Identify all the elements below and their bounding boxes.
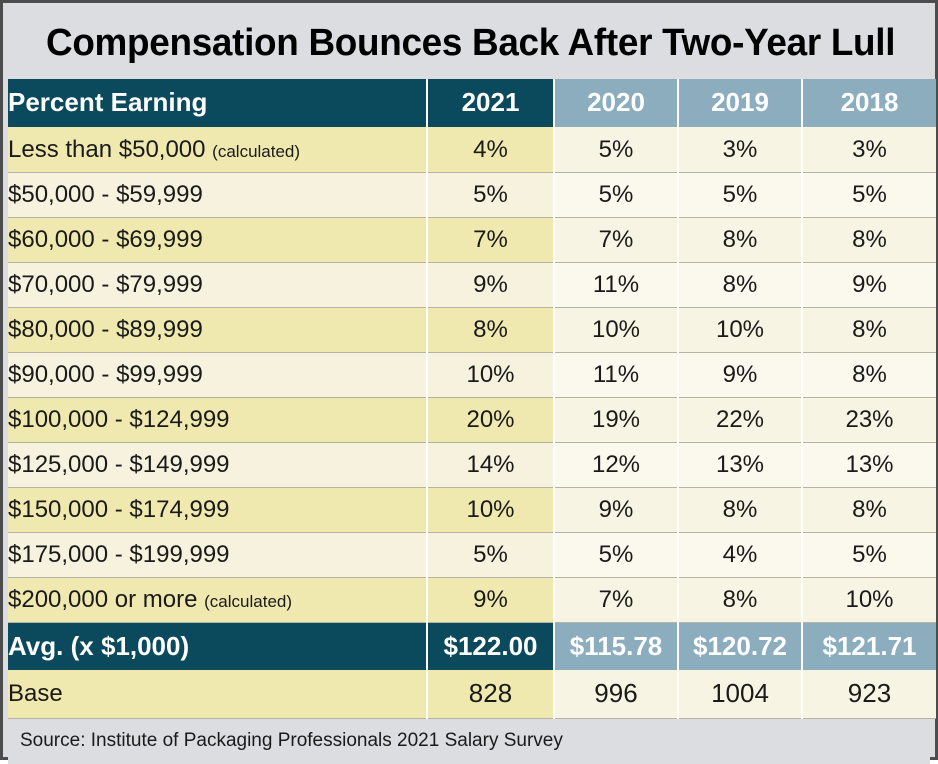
row-label-text: $100,000 - $124,999 bbox=[8, 406, 230, 433]
row-label-note: (calculated) bbox=[212, 142, 300, 161]
average-cell-2019: $120.72 bbox=[678, 622, 802, 670]
cell-2021: 9% bbox=[427, 262, 554, 307]
row-label: $200,000 or more (calculated) bbox=[8, 577, 427, 622]
cell-2020: 7% bbox=[554, 217, 678, 262]
row-label-text: $60,000 - $69,999 bbox=[8, 226, 203, 253]
cell-2020: 5% bbox=[554, 172, 678, 217]
cell-2020: 12% bbox=[554, 442, 678, 487]
cell-2018: 8% bbox=[802, 217, 936, 262]
cell-2019: 3% bbox=[678, 127, 802, 172]
average-cell-2018: $121.71 bbox=[802, 622, 936, 670]
cell-2018: 3% bbox=[802, 127, 936, 172]
cell-2018: 13% bbox=[802, 442, 936, 487]
cell-2018: 5% bbox=[802, 172, 936, 217]
base-row: Base 828 996 1004 923 bbox=[8, 670, 936, 718]
cell-2021: 5% bbox=[427, 532, 554, 577]
base-cell-2020: 996 bbox=[554, 670, 678, 718]
page-title: Compensation Bounces Back After Two-Year… bbox=[46, 22, 895, 65]
cell-2021: 20% bbox=[427, 397, 554, 442]
column-header-percent-earning: Percent Earning bbox=[8, 79, 427, 127]
cell-2021: 4% bbox=[427, 127, 554, 172]
base-row-label: Base bbox=[8, 670, 427, 718]
cell-2020: 7% bbox=[554, 577, 678, 622]
base-cell-2019: 1004 bbox=[678, 670, 802, 718]
cell-2020: 11% bbox=[554, 262, 678, 307]
cell-2021: 5% bbox=[427, 172, 554, 217]
compensation-table: Percent Earning 2021 2020 2019 2018 Less… bbox=[8, 79, 936, 719]
row-label: Less than $50,000 (calculated) bbox=[8, 127, 427, 172]
cell-2018: 8% bbox=[802, 487, 936, 532]
cell-2019: 4% bbox=[678, 532, 802, 577]
cell-2018: 5% bbox=[802, 532, 936, 577]
row-label-text: $90,000 - $99,999 bbox=[8, 361, 203, 388]
cell-2019: 9% bbox=[678, 352, 802, 397]
cell-2020: 19% bbox=[554, 397, 678, 442]
cell-2020: 11% bbox=[554, 352, 678, 397]
cell-2021: 8% bbox=[427, 307, 554, 352]
cell-2019: 10% bbox=[678, 307, 802, 352]
table-row: $50,000 - $59,999 5% 5% 5% 5% bbox=[8, 172, 936, 217]
title-bar: Compensation Bounces Back After Two-Year… bbox=[8, 8, 930, 79]
table-row: $100,000 - $124,999 20% 19% 22% 23% bbox=[8, 397, 936, 442]
row-label: $70,000 - $79,999 bbox=[8, 262, 427, 307]
table-row: $150,000 - $174,999 10% 9% 8% 8% bbox=[8, 487, 936, 532]
row-label-text: $70,000 - $79,999 bbox=[8, 271, 203, 298]
table-row: $200,000 or more (calculated) 9% 7% 8% 1… bbox=[8, 577, 936, 622]
table-row: $175,000 - $199,999 5% 5% 4% 5% bbox=[8, 532, 936, 577]
cell-2020: 5% bbox=[554, 127, 678, 172]
cell-2021: 10% bbox=[427, 352, 554, 397]
row-label: $100,000 - $124,999 bbox=[8, 397, 427, 442]
cell-2018: 9% bbox=[802, 262, 936, 307]
table-row: Less than $50,000 (calculated) 4% 5% 3% … bbox=[8, 127, 936, 172]
cell-2018: 8% bbox=[802, 352, 936, 397]
cell-2019: 8% bbox=[678, 262, 802, 307]
row-label: $90,000 - $99,999 bbox=[8, 352, 427, 397]
cell-2019: 22% bbox=[678, 397, 802, 442]
cell-2020: 9% bbox=[554, 487, 678, 532]
column-header-2019: 2019 bbox=[678, 79, 802, 127]
row-label: $80,000 - $89,999 bbox=[8, 307, 427, 352]
row-label: $150,000 - $174,999 bbox=[8, 487, 427, 532]
cell-2018: 23% bbox=[802, 397, 936, 442]
cell-2021: 7% bbox=[427, 217, 554, 262]
average-row: Avg. (x $1,000) $122.00 $115.78 $120.72 … bbox=[8, 622, 936, 670]
table-header: Percent Earning 2021 2020 2019 2018 bbox=[8, 79, 936, 127]
row-label-note: (calculated) bbox=[204, 592, 292, 611]
salary-table-figure: Compensation Bounces Back After Two-Year… bbox=[0, 0, 938, 760]
cell-2021: 9% bbox=[427, 577, 554, 622]
row-label-text: $200,000 or more bbox=[8, 586, 197, 613]
average-cell-2021: $122.00 bbox=[427, 622, 554, 670]
cell-2019: 13% bbox=[678, 442, 802, 487]
base-cell-2021: 828 bbox=[427, 670, 554, 718]
row-label-text: $150,000 - $174,999 bbox=[8, 496, 230, 523]
row-label: $175,000 - $199,999 bbox=[8, 532, 427, 577]
cell-2018: 8% bbox=[802, 307, 936, 352]
cell-2018: 10% bbox=[802, 577, 936, 622]
cell-2019: 8% bbox=[678, 217, 802, 262]
row-label: $50,000 - $59,999 bbox=[8, 172, 427, 217]
source-bar: Source: Institute of Packaging Professio… bbox=[8, 719, 930, 764]
row-label-text: $80,000 - $89,999 bbox=[8, 316, 203, 343]
column-header-2018: 2018 bbox=[802, 79, 936, 127]
base-cell-2018: 923 bbox=[802, 670, 936, 718]
cell-2019: 8% bbox=[678, 487, 802, 532]
table-row: $125,000 - $149,999 14% 12% 13% 13% bbox=[8, 442, 936, 487]
cell-2019: 5% bbox=[678, 172, 802, 217]
cell-2019: 8% bbox=[678, 577, 802, 622]
cell-2020: 10% bbox=[554, 307, 678, 352]
table-row: $70,000 - $79,999 9% 11% 8% 9% bbox=[8, 262, 936, 307]
cell-2020: 5% bbox=[554, 532, 678, 577]
header-row: Percent Earning 2021 2020 2019 2018 bbox=[8, 79, 936, 127]
row-label: $125,000 - $149,999 bbox=[8, 442, 427, 487]
row-label-text: $125,000 - $149,999 bbox=[8, 451, 230, 478]
row-label-text: $175,000 - $199,999 bbox=[8, 541, 230, 568]
average-row-label: Avg. (x $1,000) bbox=[8, 622, 427, 670]
cell-2021: 14% bbox=[427, 442, 554, 487]
average-cell-2020: $115.78 bbox=[554, 622, 678, 670]
source-note: Source: Institute of Packaging Professio… bbox=[20, 730, 563, 752]
row-label-text: Less than $50,000 bbox=[8, 136, 206, 163]
table-row: $80,000 - $89,999 8% 10% 10% 8% bbox=[8, 307, 936, 352]
row-label: $60,000 - $69,999 bbox=[8, 217, 427, 262]
table-row: $60,000 - $69,999 7% 7% 8% 8% bbox=[8, 217, 936, 262]
row-label-text: $50,000 - $59,999 bbox=[8, 181, 203, 208]
table-row: $90,000 - $99,999 10% 11% 9% 8% bbox=[8, 352, 936, 397]
table-body: Less than $50,000 (calculated) 4% 5% 3% … bbox=[8, 127, 936, 718]
column-header-2020: 2020 bbox=[554, 79, 678, 127]
column-header-2021: 2021 bbox=[427, 79, 554, 127]
cell-2021: 10% bbox=[427, 487, 554, 532]
